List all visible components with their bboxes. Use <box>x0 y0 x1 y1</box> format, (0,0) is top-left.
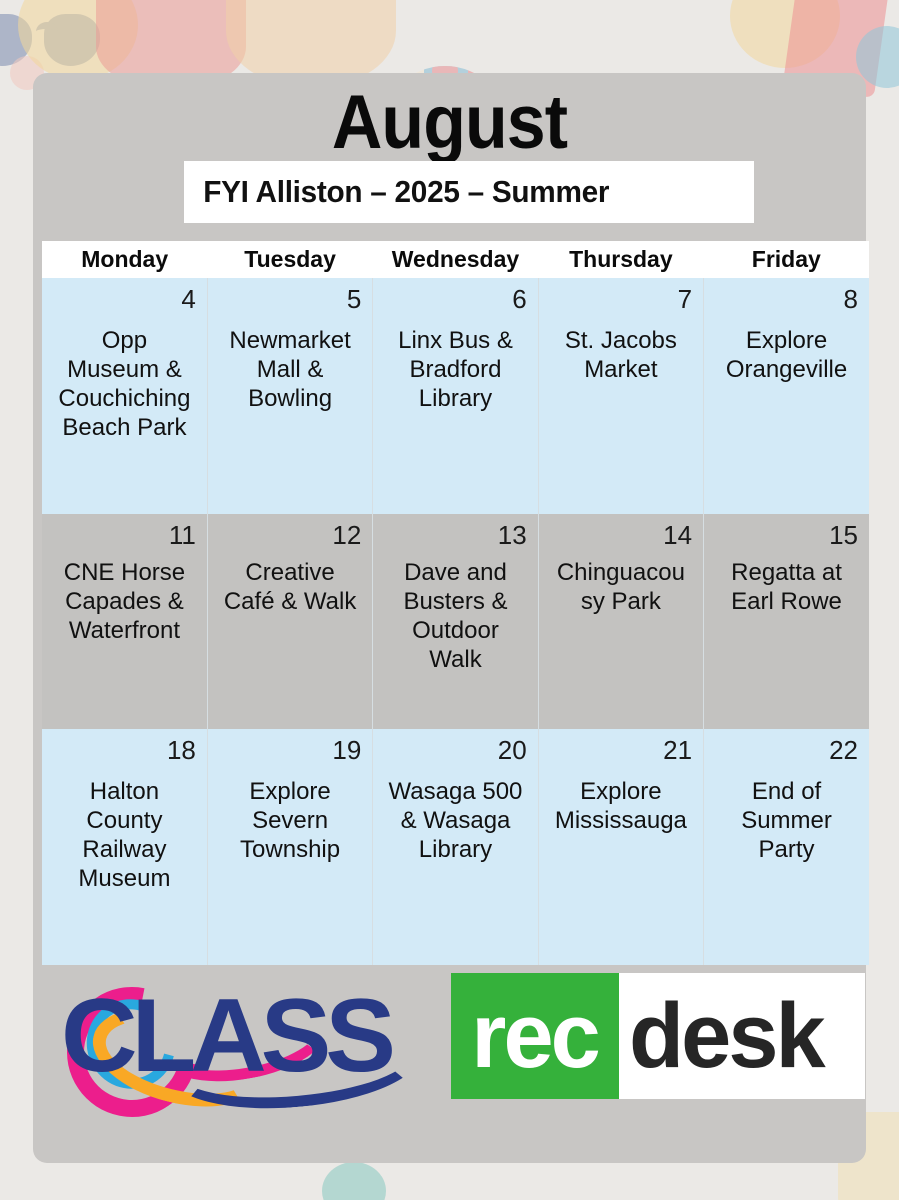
day-number: 20 <box>384 735 526 765</box>
recdesk-logo: rec desk <box>451 973 865 1099</box>
day-number: 19 <box>219 735 361 765</box>
calendar-day-cell[interactable]: 7 St. Jacobs Market <box>538 278 703 514</box>
day-event: Dave and Busters & Outdoor Walk <box>384 558 526 674</box>
day-number: 22 <box>715 735 858 765</box>
sand-bucket-icon <box>96 0 246 84</box>
calendar-day-cell[interactable]: 22 End of Summer Party <box>704 729 869 965</box>
calendar-header-row: Monday Tuesday Wednesday Thursday Friday <box>42 241 869 278</box>
day-event: Creative Café & Walk <box>219 558 361 616</box>
day-number: 7 <box>550 284 692 314</box>
calendar-day-cell[interactable]: 18 Halton County Railway Museum <box>42 729 207 965</box>
day-event: Opp Museum & Couchiching Beach Park <box>53 326 196 442</box>
recdesk-rec-text: rec <box>472 990 599 1082</box>
day-number: 15 <box>715 520 858 550</box>
day-event: Linx Bus & Bradford Library <box>384 326 526 413</box>
calendar-day-cell[interactable]: 12 Creative Café & Walk <box>207 514 372 729</box>
class-logo: CLASS <box>61 977 421 1095</box>
day-number: 5 <box>219 284 361 314</box>
day-event: Explore Mississauga <box>550 777 692 835</box>
day-header-friday: Friday <box>704 241 869 278</box>
day-event: CNE Horse Capades & Waterfront <box>53 558 196 645</box>
calendar-day-cell[interactable]: 8 Explore Orangeville <box>704 278 869 514</box>
day-number: 21 <box>550 735 692 765</box>
day-number: 8 <box>715 284 858 314</box>
day-event: Newmarket Mall & Bowling <box>219 326 361 413</box>
recdesk-desk-text: desk <box>629 990 823 1082</box>
calendar-day-cell[interactable]: 19 Explore Severn Township <box>207 729 372 965</box>
recdesk-rec-box: rec <box>451 973 619 1099</box>
day-number: 12 <box>219 520 361 550</box>
subtitle-banner: FYI Alliston – 2025 – Summer <box>184 161 754 223</box>
day-header-monday: Monday <box>42 241 207 278</box>
calendar-day-cell[interactable]: 6 Linx Bus & Bradford Library <box>373 278 538 514</box>
day-event: Halton County Railway Museum <box>53 777 196 893</box>
day-header-thursday: Thursday <box>538 241 703 278</box>
calendar-card: August FYI Alliston – 2025 – Summer Mond… <box>33 73 866 1163</box>
deco-dot-3 <box>322 1162 386 1200</box>
calendar-day-cell[interactable]: 21 Explore Mississauga <box>538 729 703 965</box>
day-number: 13 <box>384 520 526 550</box>
page-title: August <box>66 73 832 163</box>
calendar-day-cell[interactable]: 15 Regatta at Earl Rowe <box>704 514 869 729</box>
calendar-day-cell[interactable]: 20 Wasaga 500 & Wasaga Library <box>373 729 538 965</box>
calendar-day-cell[interactable]: 11 CNE Horse Capades & Waterfront <box>42 514 207 729</box>
calendar-day-cell[interactable]: 5 Newmarket Mall & Bowling <box>207 278 372 514</box>
calendar-week-row: 18 Halton County Railway Museum 19 Explo… <box>42 729 869 965</box>
calendar-day-cell[interactable]: 13 Dave and Busters & Outdoor Walk <box>373 514 538 729</box>
calendar-table: Monday Tuesday Wednesday Thursday Friday… <box>42 241 869 965</box>
day-event: St. Jacobs Market <box>550 326 692 384</box>
day-number: 18 <box>53 735 196 765</box>
day-event: End of Summer Party <box>715 777 858 864</box>
calendar-day-cell[interactable]: 14 Chinguacousy Park <box>538 514 703 729</box>
day-header-wednesday: Wednesday <box>373 241 538 278</box>
day-event: Wasaga 500 & Wasaga Library <box>384 777 526 864</box>
day-number: 4 <box>53 284 196 314</box>
day-number: 6 <box>384 284 526 314</box>
day-number: 11 <box>53 520 196 550</box>
day-number: 14 <box>550 520 692 550</box>
calendar-week-row: 11 CNE Horse Capades & Waterfront 12 Cre… <box>42 514 869 729</box>
day-header-tuesday: Tuesday <box>207 241 372 278</box>
day-event: Explore Severn Township <box>219 777 361 864</box>
footer-logos: CLASS rec desk <box>33 979 866 1099</box>
day-event: Explore Orangeville <box>715 326 858 384</box>
calendar-week-row: 4 Opp Museum & Couchiching Beach Park 5 … <box>42 278 869 514</box>
day-event: Regatta at Earl Rowe <box>715 558 858 616</box>
calendar-day-cell[interactable]: 4 Opp Museum & Couchiching Beach Park <box>42 278 207 514</box>
day-event: Chinguacousy Park <box>550 558 692 616</box>
subtitle-text: FYI Alliston – 2025 – Summer <box>184 174 609 210</box>
recdesk-desk-box: desk <box>619 973 865 1099</box>
